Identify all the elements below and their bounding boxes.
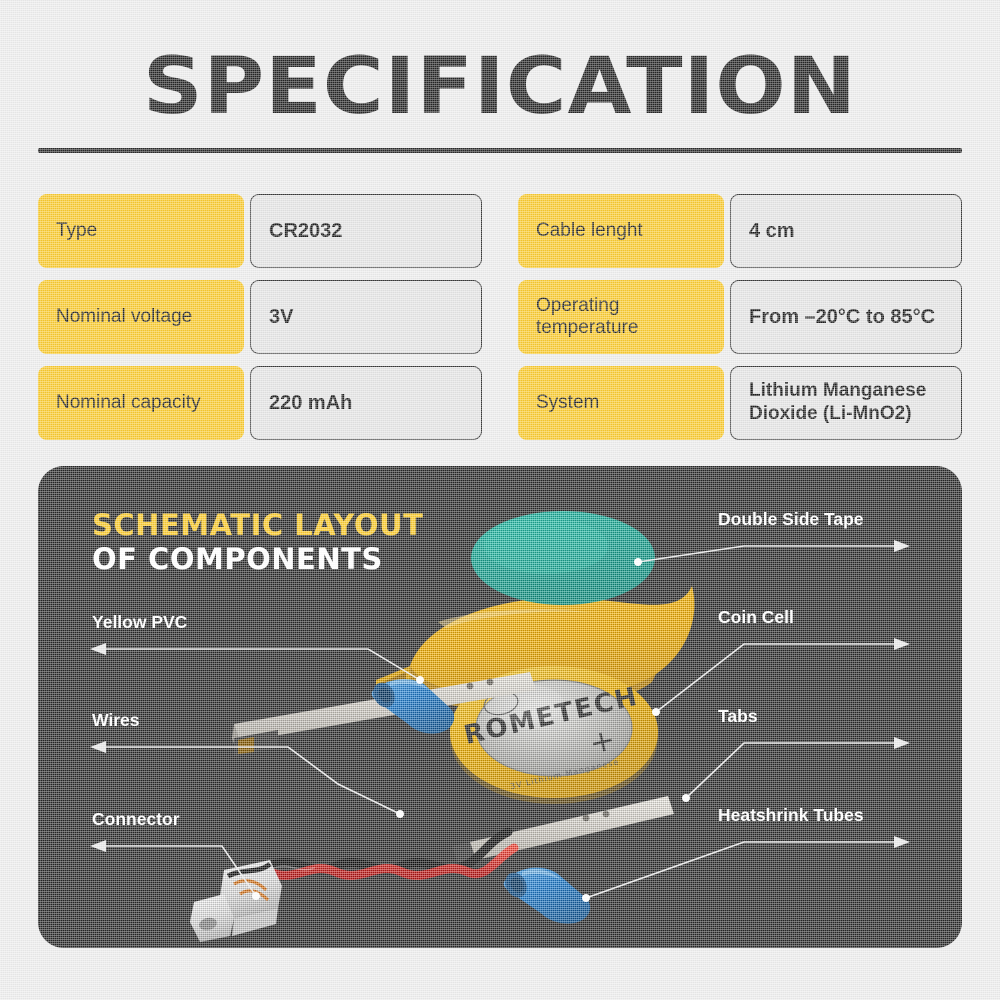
spec-row: Cable lenght 4 cm [518, 194, 962, 268]
callout-wires: Wires [92, 710, 140, 731]
spec-value: 220 mAh [250, 366, 482, 440]
spec-value: 3V [250, 280, 482, 354]
schematic-heading: SCHEMATIC LAYOUT OF COMPONENTS [92, 508, 423, 576]
spec-row: Type CR2032 [38, 194, 482, 268]
specification-table: Type CR2032 Nominal voltage 3V Nominal c… [38, 194, 962, 440]
spec-key: Nominal capacity [38, 366, 244, 440]
spec-key: Type [38, 194, 244, 268]
spec-key: System [518, 366, 724, 440]
connector-part [190, 860, 282, 942]
spec-value: CR2032 [250, 194, 482, 268]
spec-row: Nominal capacity 220 mAh [38, 366, 482, 440]
page-title-wrap: SPECIFICATION [0, 48, 1000, 126]
callout-connector: Connector [92, 809, 180, 830]
heatshrink-tube-lower [501, 868, 590, 924]
spec-value: Lithium Manganese Dioxide (Li-MnO2) [730, 366, 962, 440]
spec-row: Nominal voltage 3V [38, 280, 482, 354]
callout-tabs: Tabs [718, 706, 758, 727]
spec-key: Nominal voltage [38, 280, 244, 354]
spec-row: System Lithium Manganese Dioxide (Li-MnO… [518, 366, 962, 440]
callout-yellow-pvc: Yellow PVC [92, 612, 187, 633]
title-divider [38, 148, 962, 153]
wires-part [270, 832, 514, 875]
spec-value: From –20°C to 85°C [730, 280, 962, 354]
spec-value: 4 cm [730, 194, 962, 268]
schematic-panel: ROMETECH + 3V Lithium Manganese [38, 466, 962, 948]
spec-key: Operating temperature [518, 280, 724, 354]
callout-double-side-tape: Double Side Tape [718, 509, 864, 530]
schematic-heading-line2: OF COMPONENTS [92, 542, 423, 576]
callout-coin-cell: Coin Cell [718, 607, 794, 628]
page-title: SPECIFICATION [0, 48, 1000, 126]
spec-column-left: Type CR2032 Nominal voltage 3V Nominal c… [38, 194, 482, 440]
spec-column-right: Cable lenght 4 cm Operating temperature … [518, 194, 962, 440]
spec-row: Operating temperature From –20°C to 85°C [518, 280, 962, 354]
schematic-heading-line1: SCHEMATIC LAYOUT [92, 508, 423, 542]
spec-key: Cable lenght [518, 194, 724, 268]
double-side-tape-part [471, 511, 655, 605]
callout-heatshrink-tubes: Heatshrink Tubes [718, 805, 864, 826]
